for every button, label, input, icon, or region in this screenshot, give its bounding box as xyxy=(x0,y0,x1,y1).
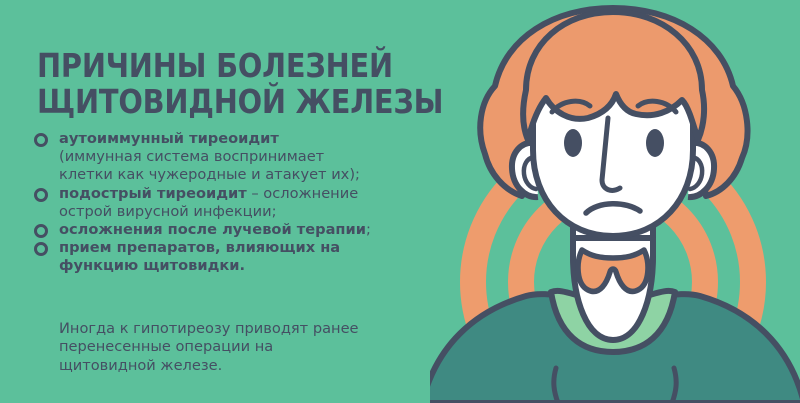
eye-left xyxy=(564,129,582,157)
bullet-ring-icon xyxy=(34,133,48,147)
person-illustration xyxy=(430,0,800,403)
list-item-detail-line: (иммунная система воспринимает xyxy=(59,148,324,165)
list-item-detail-line: острой вирусной инфекции; xyxy=(59,203,277,220)
closing-line-3: щитовидной железе. xyxy=(59,357,459,376)
list-item-term: подострый тиреоидит xyxy=(59,185,247,202)
title-line-2: ЩИТОВИДНОЙ ЖЕЛЕЗЫ xyxy=(37,84,454,120)
list-item-detail-line: – осложнение xyxy=(247,185,358,202)
closing-line-1: Иногда к гипотиреозу приводят ранее xyxy=(59,320,459,339)
text-layer: ПРИЧИНЫ БОЛЕЗНЕЙ ЩИТОВИДНОЙ ЖЕЛЕЗЫ аутои… xyxy=(0,0,470,403)
title-line-1: ПРИЧИНЫ БОЛЕЗНЕЙ xyxy=(37,48,454,84)
eye-right xyxy=(646,129,664,157)
bullet-ring-icon xyxy=(34,188,48,202)
infographic-canvas: ПРИЧИНЫ БОЛЕЗНЕЙ ЩИТОВИДНОЙ ЖЕЛЕЗЫ аутои… xyxy=(0,0,800,403)
closing-line-2: перенесенные операции на xyxy=(59,338,459,357)
closing-paragraph: Иногда к гипотиреозу приводят ранее пере… xyxy=(59,320,459,376)
list-item-term: прием препаратов, влияющих на xyxy=(59,239,340,256)
list-item-detail-line: функцию щитовидки. xyxy=(59,257,245,274)
list-item-detail-line: ; xyxy=(366,221,371,238)
list-item: аутоиммунный тиреоидит (иммунная система… xyxy=(33,130,468,185)
list-item-term: аутоиммунный тиреоидит xyxy=(59,130,279,147)
list-item: прием препаратов, влияющих на функцию щи… xyxy=(33,239,468,275)
list-item: осложнения после лучевой терапии; xyxy=(33,221,468,239)
page-title: ПРИЧИНЫ БОЛЕЗНЕЙ ЩИТОВИДНОЙ ЖЕЛЕЗЫ xyxy=(37,48,454,120)
list-item-term: осложнения после лучевой терапии xyxy=(59,221,366,238)
causes-list: аутоиммунный тиреоидит (иммунная система… xyxy=(33,130,468,276)
bullet-ring-icon xyxy=(34,224,48,238)
list-item: подострый тиреоидит – осложнение острой … xyxy=(33,185,468,221)
list-item-detail-line: клетки как чужеродные и атакует их); xyxy=(59,166,360,183)
bullet-ring-icon xyxy=(34,242,48,256)
